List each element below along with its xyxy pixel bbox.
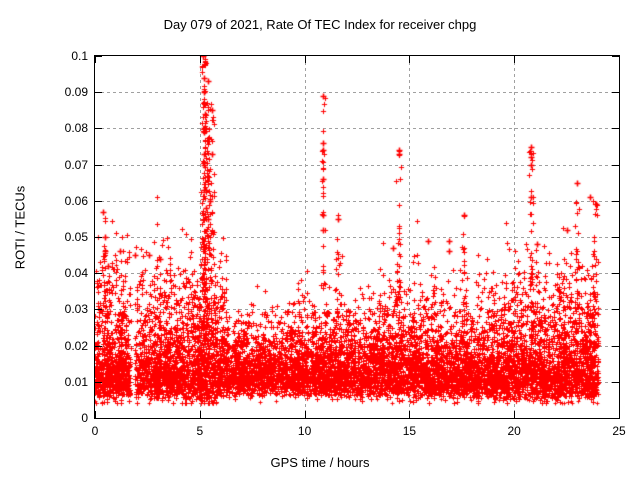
x-tick-label: 20	[494, 425, 534, 437]
x-axis-tick-labels: 0510152025	[0, 0, 640, 480]
y-axis-title: ROTI / TECUs	[13, 148, 28, 308]
x-tick-label: 25	[599, 425, 639, 437]
x-tick-label: 0	[75, 425, 115, 437]
x-tick-label: 15	[389, 425, 429, 437]
x-tick-label: 5	[180, 425, 220, 437]
x-axis-title: GPS time / hours	[0, 455, 640, 470]
x-tick-label: 10	[285, 425, 325, 437]
chart-screenshot: Day 079 of 2021, Rate Of TEC Index for r…	[0, 0, 640, 480]
